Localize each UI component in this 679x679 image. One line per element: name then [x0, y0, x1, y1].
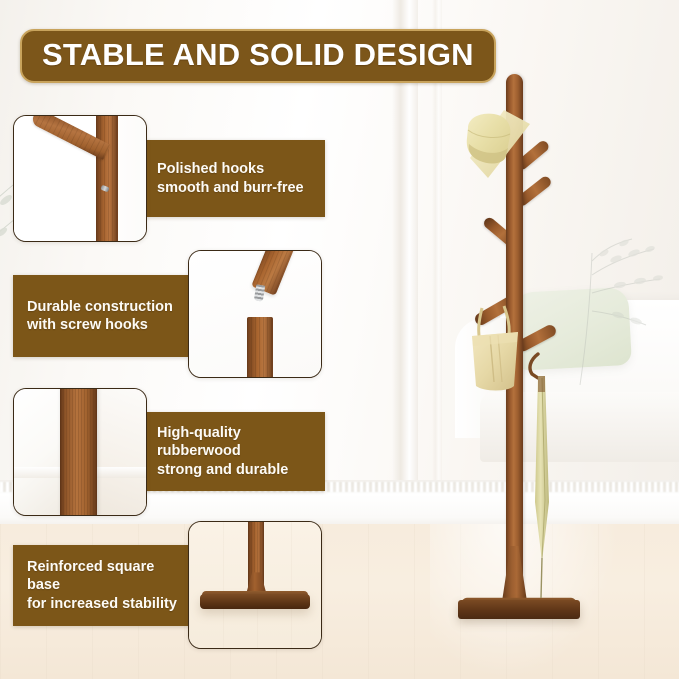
square-base-in-photo [200, 594, 311, 609]
caption-line-1: Reinforced square base [27, 559, 154, 594]
infographic-canvas: STABLE AND SOLID DESIGN Polished hooks s… [0, 0, 679, 679]
rubberwood-post-in-photo [60, 388, 97, 516]
rack-base [458, 600, 580, 619]
page-title: STABLE AND SOLID DESIGN [42, 38, 474, 72]
caption-line-2: for increased stability [27, 596, 177, 612]
square-base-photo [188, 521, 322, 649]
caption-line-1: Durable construction [27, 299, 173, 315]
caption-polished-hooks: Polished hooks smooth and burr-free [143, 140, 325, 217]
caption-line-1: High-quality rubberwood [157, 425, 241, 460]
post-block-in-photo [247, 317, 273, 378]
photo-background-left [14, 389, 60, 515]
caption-rubberwood: High-quality rubberwood strong and durab… [143, 412, 325, 491]
hook-peg-closeup-photo [13, 115, 147, 242]
handbag [464, 302, 526, 394]
caption-line-2: strong and durable [157, 462, 288, 478]
caption-line-2: with screw hooks [27, 317, 148, 333]
caption-line-2: smooth and burr-free [157, 180, 304, 196]
wooden-coat-rack [440, 70, 640, 630]
folded-umbrella [526, 352, 560, 602]
page-title-banner: STABLE AND SOLID DESIGN [20, 29, 496, 83]
photo-background-right [97, 389, 146, 515]
caption-line-1: Polished hooks [157, 161, 264, 177]
post-in-photo [96, 115, 118, 242]
straw-hat [460, 104, 532, 180]
caption-screw-hooks: Durable construction with screw hooks [13, 275, 195, 357]
rubberwood-grain-photo [13, 388, 147, 516]
caption-square-base: Reinforced square base for increased sta… [13, 545, 195, 626]
screw-hook-detail-photo [188, 250, 322, 378]
